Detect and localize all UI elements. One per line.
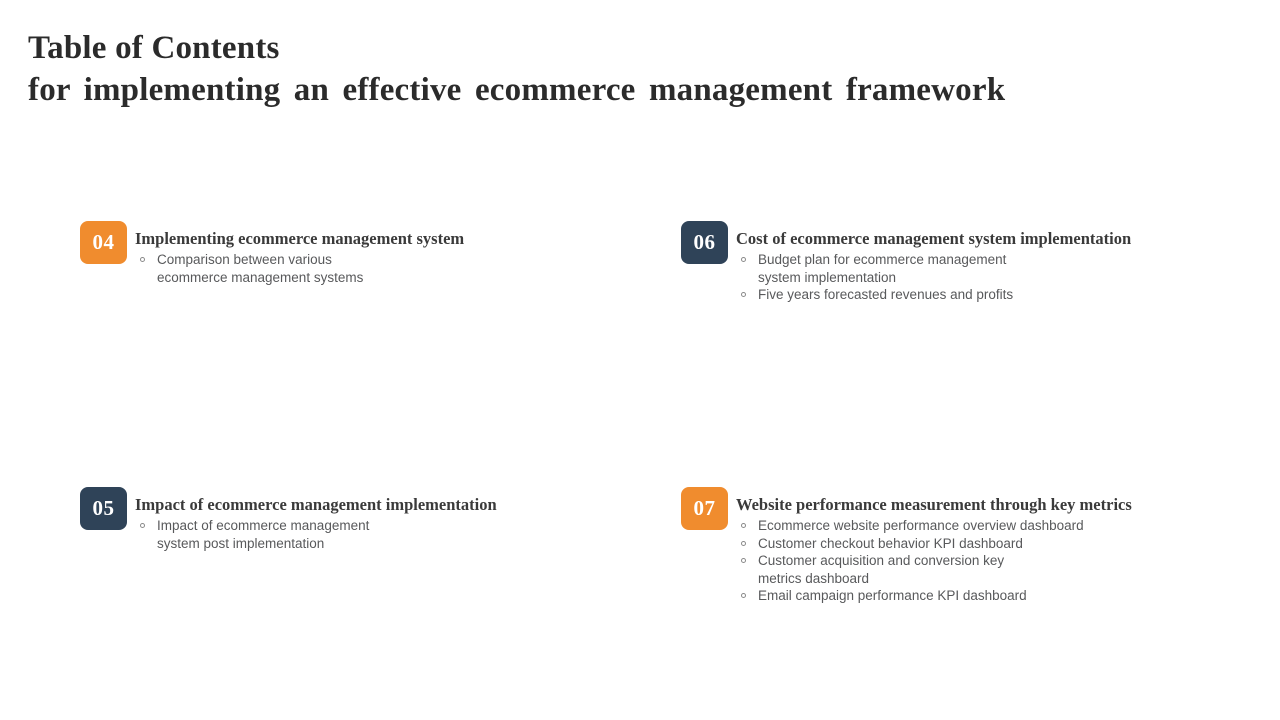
list-item[interactable]: Ecommerce website performance overview d… [736,517,1132,535]
circle-bullet-icon [741,558,746,563]
list-item-line: Customer checkout behavior KPI dashboard [758,535,1132,553]
circle-bullet-icon [741,593,746,598]
list-item[interactable]: Email campaign performance KPI dashboard [736,587,1132,605]
circle-bullet-icon [741,292,746,297]
list-item[interactable]: Budget plan for ecommerce management sys… [736,251,1131,286]
list-item[interactable]: Impact of ecommerce management system po… [135,517,497,552]
list-item[interactable]: Customer checkout behavior KPI dashboard [736,535,1132,553]
list-item-line: Customer acquisition and conversion key [758,552,1132,570]
circle-bullet-icon [741,541,746,546]
toc-entry-05[interactable]: 05 Impact of ecommerce management implem… [80,487,660,552]
toc-heading-04: Implementing ecommerce management system [135,229,464,248]
toc-text-05: Impact of ecommerce management implement… [135,487,497,552]
toc-heading-07: Website performance measurement through … [736,495,1132,514]
toc-number-badge-07: 07 [681,487,728,530]
toc-heading-06: Cost of ecommerce management system impl… [736,229,1131,248]
list-item-line: system implementation [758,269,1131,287]
list-item-line: Impact of ecommerce management [157,517,497,535]
circle-bullet-icon [140,257,145,262]
toc-bullet-list-06: Budget plan for ecommerce management sys… [736,251,1131,304]
toc-entry-04[interactable]: 04 Implementing ecommerce management sys… [80,221,660,286]
toc-text-04: Implementing ecommerce management system… [135,221,464,286]
toc-bullet-list-05: Impact of ecommerce management system po… [135,517,497,552]
toc-number-badge-04: 04 [80,221,127,264]
toc-number-badge-06: 06 [681,221,728,264]
table-of-contents-grid: 04 Implementing ecommerce management sys… [0,0,1280,720]
toc-bullet-list-07: Ecommerce website performance overview d… [736,517,1132,605]
list-item[interactable]: Comparison between various ecommerce man… [135,251,464,286]
toc-bullet-list-04: Comparison between various ecommerce man… [135,251,464,286]
toc-text-06: Cost of ecommerce management system impl… [736,221,1131,304]
list-item-line: system post implementation [157,535,497,553]
list-item[interactable]: Customer acquisition and conversion key … [736,552,1132,587]
circle-bullet-icon [741,523,746,528]
toc-entry-06[interactable]: 06 Cost of ecommerce management system i… [681,221,1261,304]
list-item-line: ecommerce management systems [157,269,464,287]
list-item[interactable]: Five years forecasted revenues and profi… [736,286,1131,304]
toc-entry-07[interactable]: 07 Website performance measurement throu… [681,487,1261,605]
toc-heading-05: Impact of ecommerce management implement… [135,495,497,514]
list-item-line: metrics dashboard [758,570,1132,588]
list-item-line: Five years forecasted revenues and profi… [758,286,1131,304]
list-item-line: Ecommerce website performance overview d… [758,517,1132,535]
toc-number-badge-05: 05 [80,487,127,530]
circle-bullet-icon [741,257,746,262]
list-item-line: Comparison between various [157,251,464,269]
circle-bullet-icon [140,523,145,528]
list-item-line: Budget plan for ecommerce management [758,251,1131,269]
toc-text-07: Website performance measurement through … [736,487,1132,605]
list-item-line: Email campaign performance KPI dashboard [758,587,1132,605]
